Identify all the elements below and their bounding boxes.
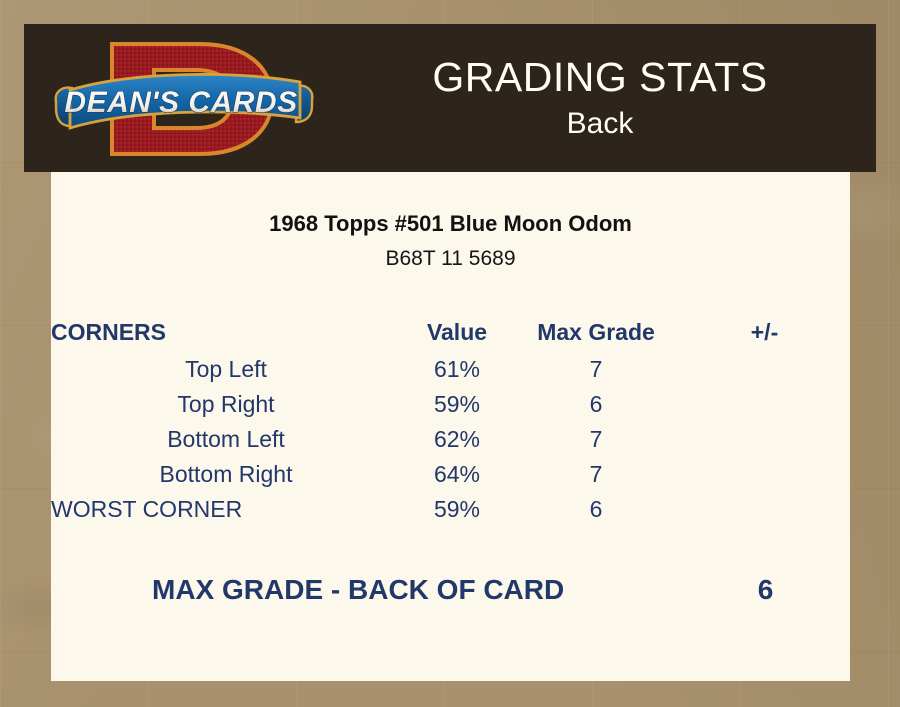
table-row: Bottom Right 64% 7 [51, 457, 850, 492]
header-titles: GRADING STATS Back [324, 24, 876, 172]
corner-label: Bottom Right [51, 457, 401, 492]
corner-value: 61% [401, 352, 513, 387]
table-row-worst-corner: WORST CORNER 59% 6 [51, 492, 850, 527]
worst-corner-delta [679, 492, 850, 527]
corners-stats-table: CORNERS Value Max Grade +/- Top Left 61%… [51, 312, 850, 527]
logo-svg: DEAN'S CARDS [50, 30, 318, 168]
corner-label: Top Left [51, 352, 401, 387]
corner-max-grade: 7 [513, 352, 679, 387]
max-grade-summary-value: 6 [680, 570, 851, 610]
page-title: GRADING STATS [432, 53, 767, 102]
table-row: Top Right 59% 6 [51, 387, 850, 422]
corner-delta [679, 422, 850, 457]
column-header-delta: +/- [679, 312, 850, 352]
header-bar: DEAN'S CARDS GRADING STATS Back [24, 24, 876, 172]
worst-corner-max-grade: 6 [513, 492, 679, 527]
corner-max-grade: 7 [513, 457, 679, 492]
max-grade-summary: MAX GRADE - BACK OF CARD 6 [51, 570, 850, 610]
max-grade-summary-label: MAX GRADE - BACK OF CARD [152, 570, 564, 610]
deans-cards-logo: DEAN'S CARDS [50, 30, 318, 168]
corner-max-grade: 6 [513, 387, 679, 422]
corner-delta [679, 457, 850, 492]
corner-max-grade: 7 [513, 422, 679, 457]
worst-corner-label: WORST CORNER [51, 492, 401, 527]
page-subtitle: Back [567, 105, 634, 143]
column-header-max-grade: Max Grade [513, 312, 679, 352]
logo-ribbon-text: DEAN'S CARDS [64, 86, 297, 119]
table-header-row: CORNERS Value Max Grade +/- [51, 312, 850, 352]
content-panel: 1968 Topps #501 Blue Moon Odom B68T 11 5… [51, 172, 850, 681]
corner-label: Top Right [51, 387, 401, 422]
column-header-value: Value [401, 312, 513, 352]
corner-value: 62% [401, 422, 513, 457]
corner-value: 59% [401, 387, 513, 422]
column-header-corners: CORNERS [51, 312, 401, 352]
corner-label: Bottom Left [51, 422, 401, 457]
corner-delta [679, 387, 850, 422]
logo-ribbon: DEAN'S CARDS [56, 74, 313, 128]
table-row: Top Left 61% 7 [51, 352, 850, 387]
card-title: 1968 Topps #501 Blue Moon Odom [51, 211, 850, 237]
corner-value: 64% [401, 457, 513, 492]
card-code: B68T 11 5689 [51, 247, 850, 271]
table-row: Bottom Left 62% 7 [51, 422, 850, 457]
corner-delta [679, 352, 850, 387]
worst-corner-value: 59% [401, 492, 513, 527]
